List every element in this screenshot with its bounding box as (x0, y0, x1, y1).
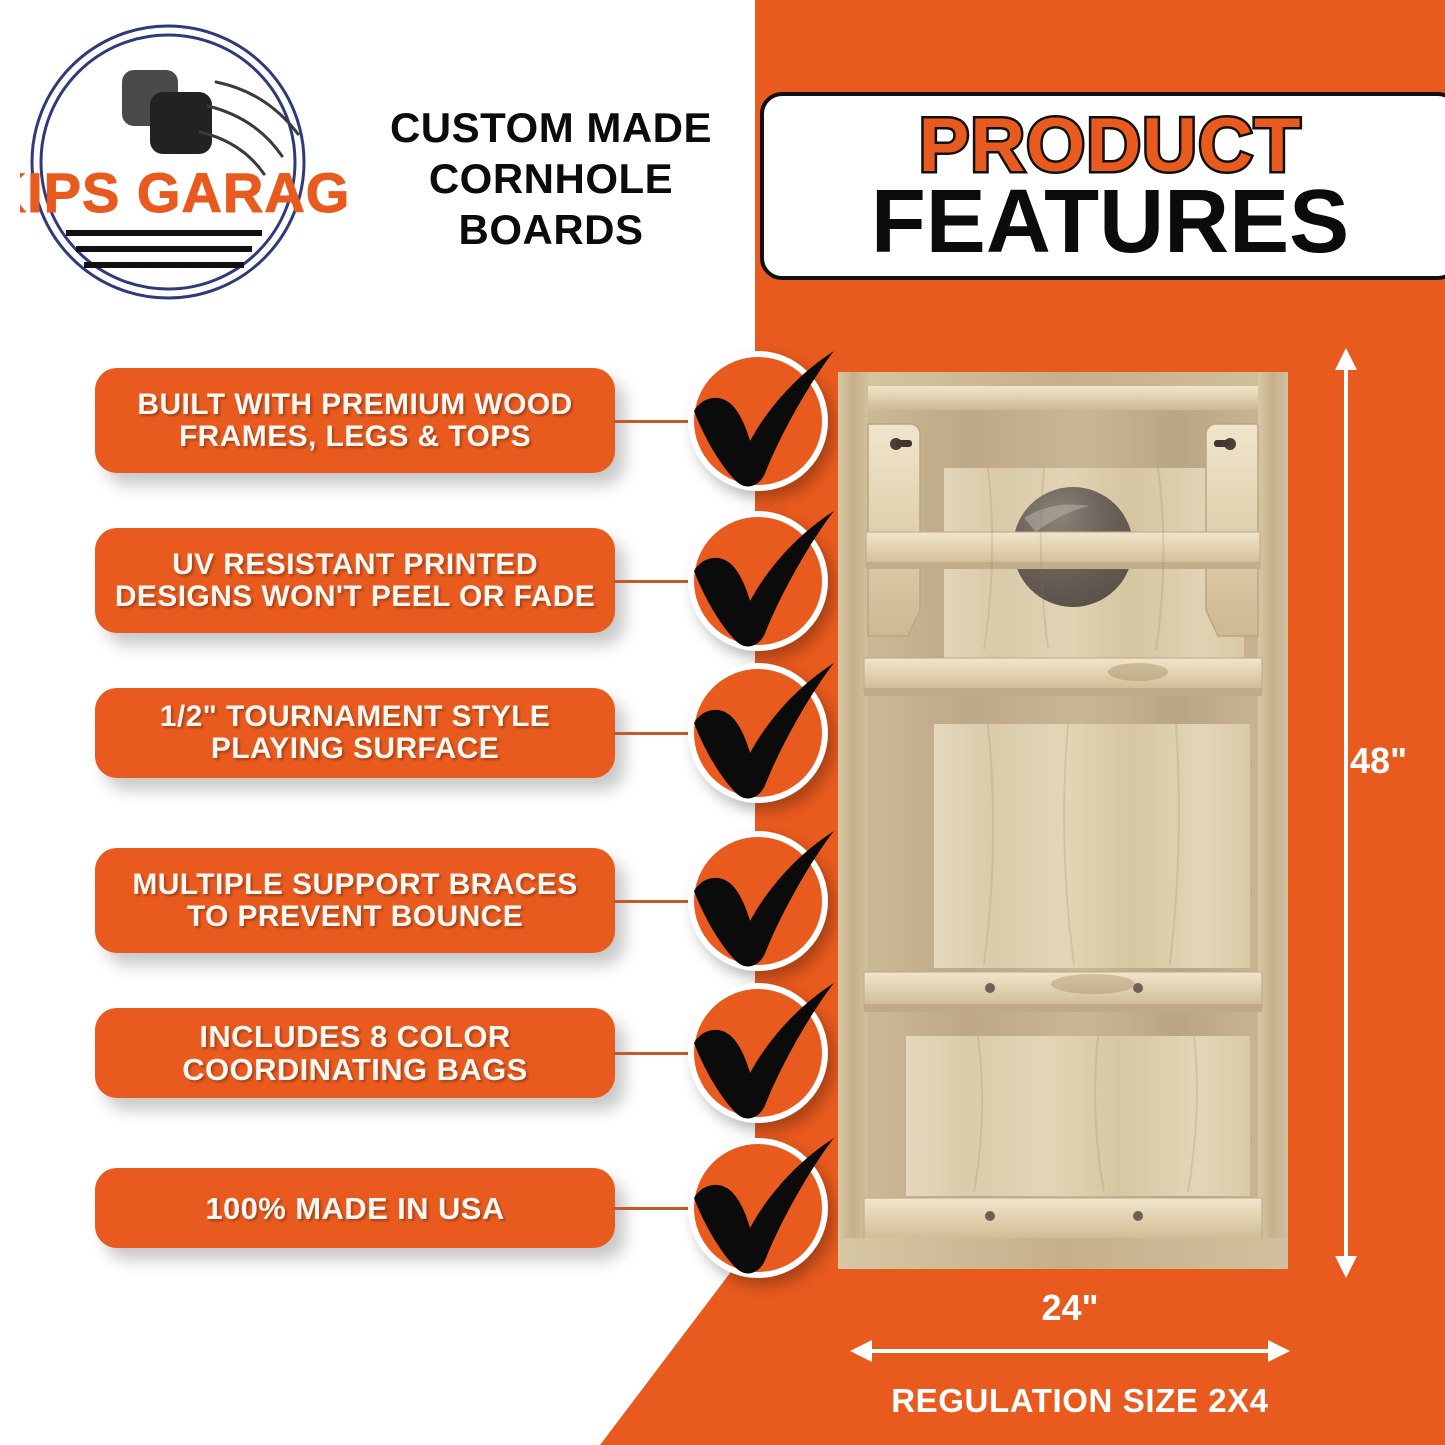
height-dimension-label: 48" (1350, 742, 1442, 780)
page-title: CUSTOM MADE CORNHOLE BOARDS (352, 102, 750, 255)
feature-pill-label: UV RESISTANT PRINTED DESIGNS WON'T PEEL … (111, 549, 599, 613)
feature-row: 1/2" TOURNAMENT STYLE PLAYING SURFACE (0, 688, 840, 778)
feature-pill[interactable]: MULTIPLE SUPPORT BRACES TO PREVENT BOUNC… (95, 848, 615, 953)
feature-pill-label: 1/2" TOURNAMENT STYLE PLAYING SURFACE (111, 701, 599, 765)
feature-pill[interactable]: INCLUDES 8 COLOR COORDINATING BAGS (95, 1008, 615, 1098)
feature-pill-label: MULTIPLE SUPPORT BRACES TO PREVENT BOUNC… (111, 869, 599, 933)
cornhole-board-underside-photo (838, 372, 1288, 1269)
headline-line-3: BOARDS (352, 204, 750, 255)
feature-check-circle (688, 983, 828, 1123)
feature-pill-label: BUILT WITH PREMIUM WOOD FRAMES, LEGS & T… (111, 389, 599, 453)
feature-pill-label: 100% MADE IN USA (205, 1192, 504, 1225)
headline-line-1: CUSTOM MADE (352, 102, 750, 153)
width-dimension-label: 24" (850, 1288, 1290, 1328)
feature-pill[interactable]: 1/2" TOURNAMENT STYLE PLAYING SURFACE (95, 688, 615, 778)
feature-check-circle (688, 351, 828, 491)
feature-pill[interactable]: BUILT WITH PREMIUM WOOD FRAMES, LEGS & T… (95, 368, 615, 473)
width-dimension-arrow (850, 1338, 1290, 1364)
feature-pill-label: INCLUDES 8 COLOR COORDINATING BAGS (111, 1020, 599, 1086)
height-dimension-arrow (1326, 348, 1366, 1278)
feature-pill[interactable]: 100% MADE IN USA (95, 1168, 615, 1248)
feature-row: 100% MADE IN USA (0, 1168, 840, 1248)
infographic-canvas: SKIPS GARAGE SKIPS GARAGE CUSTOM MADE CO… (0, 0, 1445, 1445)
feature-row: UV RESISTANT PRINTED DESIGNS WON'T PEEL … (0, 528, 840, 633)
headline-line-2: CORNHOLE (352, 153, 750, 204)
skips-garage-logo: SKIPS GARAGE SKIPS GARAGE (20, 14, 350, 314)
product-features-banner: PRODUCT FEATURES (760, 92, 1445, 280)
banner-word-features: FEATURES (871, 179, 1349, 265)
feature-check-circle (688, 831, 828, 971)
feature-row: BUILT WITH PREMIUM WOOD FRAMES, LEGS & T… (0, 368, 840, 473)
feature-check-circle (688, 663, 828, 803)
feature-row: INCLUDES 8 COLOR COORDINATING BAGS (0, 1008, 840, 1098)
regulation-size-label: REGULATION SIZE 2X4 (820, 1382, 1340, 1420)
feature-row: MULTIPLE SUPPORT BRACES TO PREVENT BOUNC… (0, 848, 840, 953)
feature-pill[interactable]: UV RESISTANT PRINTED DESIGNS WON'T PEEL … (95, 528, 615, 633)
feature-check-circle (688, 511, 828, 651)
feature-check-circle (688, 1138, 828, 1278)
